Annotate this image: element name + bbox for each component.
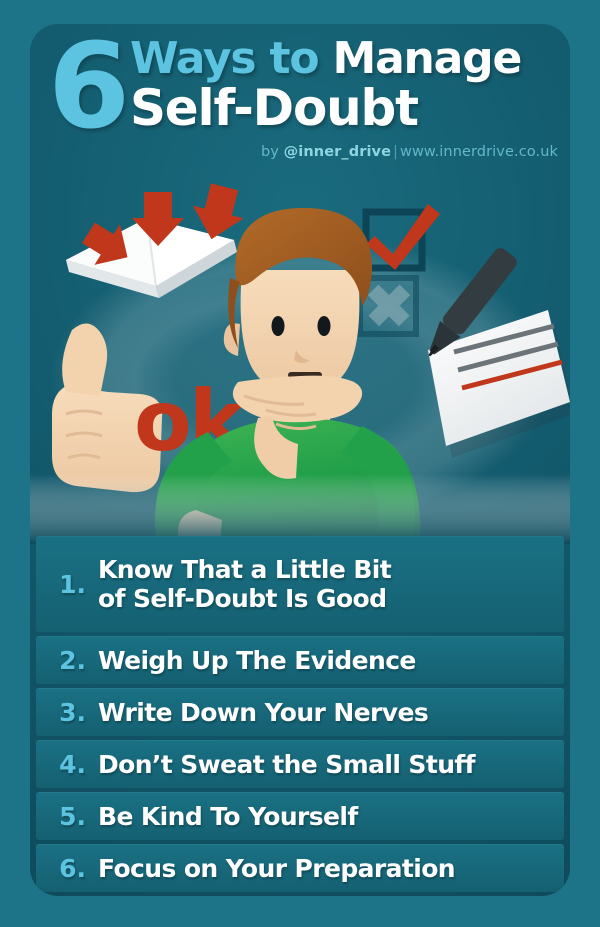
headline-number: 6 [48,27,126,145]
list-item-text: Don’t Sweat the Small Stuff [98,750,564,779]
tips-list: 1. Know That a Little Bit of Self-Doubt … [30,536,570,892]
headline-accent-text: Ways to [130,33,318,84]
illustration-svg: ok [30,174,570,544]
list-item-number: 4. [36,750,98,779]
list-item[interactable]: 1. Know That a Little Bit of Self-Doubt … [36,536,564,632]
list-item-line-1: Know That a Little Bit [98,555,391,584]
list-item-number: 6. [36,854,98,883]
list-item[interactable]: 2. Weigh Up The Evidence [36,636,564,684]
illustration: ok [30,174,570,544]
list-item-number: 2. [36,646,98,675]
main-panel: 6 Ways to Manage Self-Doubt by @inner_dr… [30,24,570,896]
headline-line-2: Self-Doubt [130,82,418,134]
header: 6 Ways to Manage Self-Doubt by @inner_dr… [30,24,570,184]
list-item-text: Be Kind To Yourself [98,802,564,831]
list-item[interactable]: 6. Focus on Your Preparation [36,844,564,892]
list-item[interactable]: 5. Be Kind To Yourself [36,792,564,840]
list-item-text: Focus on Your Preparation [98,854,564,883]
checkbox-ticked-group [366,204,440,270]
list-item-number: 3. [36,698,98,727]
byline-url: www.innerdrive.co.uk [400,144,558,160]
list-item-text: Weigh Up The Evidence [98,646,564,675]
headline-white-text: Manage [332,33,521,84]
byline-separator: | [391,144,400,160]
list-item[interactable]: 4. Don’t Sweat the Small Stuff [36,740,564,788]
infographic-canvas: 6 Ways to Manage Self-Doubt by @inner_dr… [0,0,600,927]
byline-prefix: by [261,144,284,160]
byline: by @inner_drive|www.innerdrive.co.uk [261,144,558,160]
list-item-line-2: of Self-Doubt Is Good [98,584,564,613]
headline-line-1: Ways to Manage [130,36,521,82]
list-item-text: Write Down Your Nerves [98,698,564,727]
byline-handle: @inner_drive [284,144,391,160]
list-item-number: 5. [36,802,98,831]
list-item-text: Know That a Little Bit of Self-Doubt Is … [98,555,564,613]
list-item-number: 1. [36,570,98,599]
list-item[interactable]: 3. Write Down Your Nerves [36,688,564,736]
